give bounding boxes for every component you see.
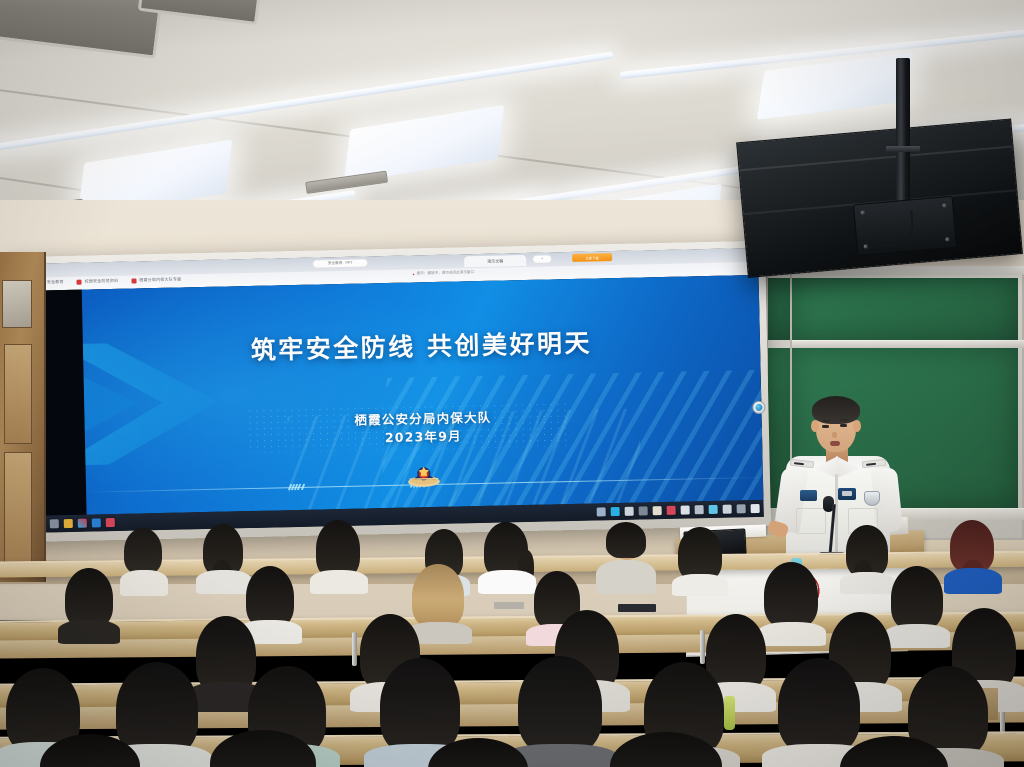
new-tab-button[interactable]: + <box>532 254 552 263</box>
cabinet-glass-panel <box>2 280 32 328</box>
lecture-hall-scene: 演示文稿 + 安全教育 · PPT 立即下载 ● 提示：播放中，请勿关闭此演示窗… <box>0 0 1024 767</box>
officer-eye <box>840 424 847 427</box>
browser-tab[interactable]: 演示文稿 <box>464 255 526 267</box>
bookmark-label: 栖霞分局内保大队专题 <box>139 276 181 283</box>
display-panel[interactable]: 演示文稿 + 安全教育 · PPT 立即下载 ● 提示：播放中，请勿关闭此演示窗… <box>12 248 764 533</box>
ceiling-panel-light <box>757 52 914 120</box>
bookmark-label: 校园安全防范资料 <box>85 278 119 285</box>
audience-member <box>830 736 958 767</box>
police-shield <box>864 491 880 506</box>
arm-patch <box>800 490 817 501</box>
touch-sensor-icon[interactable] <box>752 400 765 413</box>
bookmark-favicon <box>131 278 136 283</box>
mic-icon[interactable] <box>681 505 690 514</box>
chest-badge <box>838 488 856 500</box>
audience-member <box>118 528 170 590</box>
bookmark-item[interactable]: 栖霞分局内保大队专题 <box>131 276 181 283</box>
officer-ear <box>853 420 861 432</box>
gallery-icon[interactable] <box>737 504 746 513</box>
officer-ear <box>811 420 819 432</box>
slide-stage[interactable]: 筑牢安全防线 共创美好明天 栖霞公安分局内保大队 2023年9月 <box>13 275 764 516</box>
spotlight-icon[interactable] <box>709 505 718 514</box>
blackboard-rail <box>786 340 1024 348</box>
pen-icon[interactable] <box>639 506 648 515</box>
download-button[interactable]: 立即下载 <box>572 253 612 262</box>
officer-mouth <box>830 441 840 446</box>
officer-eyebrow <box>822 420 830 422</box>
calculator-icon[interactable] <box>751 504 760 513</box>
audience-seating <box>0 520 1024 767</box>
blackboard-panel-upper <box>792 278 1018 340</box>
police-badge-emblem <box>406 462 443 489</box>
whiteboard-toolbar[interactable] <box>597 504 760 517</box>
interactive-whiteboard[interactable]: 演示文稿 + 安全教育 · PPT 立即下载 ● 提示：播放中，请勿关闭此演示窗… <box>5 241 771 543</box>
audience-member <box>944 522 1002 592</box>
audience-member <box>30 734 150 767</box>
audience-member <box>310 522 368 592</box>
bookmark-item[interactable]: 校园安全防范资料 <box>77 278 119 285</box>
whiteboard-icon[interactable] <box>611 507 620 516</box>
audience-member <box>598 520 654 592</box>
cabinet-door-upper[interactable] <box>4 344 32 444</box>
blackboard-panel-upper <box>768 278 790 340</box>
slide-title: 筑牢安全防线 共创美好明天 <box>82 320 760 371</box>
audience-member <box>200 730 326 767</box>
annotate-icon[interactable] <box>625 507 634 516</box>
home-icon[interactable] <box>597 507 606 516</box>
audience-member <box>60 570 118 640</box>
highlighter-icon[interactable] <box>667 506 676 515</box>
bookmark-favicon <box>77 279 82 284</box>
officer-hair <box>812 396 860 424</box>
notice-dot-icon: ● <box>412 272 414 276</box>
screenshot-icon[interactable] <box>695 505 704 514</box>
audience-member <box>600 732 732 767</box>
officer-eyebrow <box>840 419 848 421</box>
officer-eye <box>822 425 829 428</box>
tv-pole-bracket <box>886 146 920 152</box>
officer-nose <box>832 432 837 438</box>
presentation-slide[interactable]: 筑牢安全防线 共创美好明天 栖霞公安分局内保大队 2023年9月 <box>81 275 763 515</box>
slide-tick-marks <box>289 484 303 490</box>
notebook <box>494 602 524 609</box>
audience-member <box>672 528 728 594</box>
audience-member <box>418 738 538 767</box>
ceiling-panel-light <box>344 105 505 183</box>
tools-icon[interactable] <box>723 505 732 514</box>
notebook <box>618 604 656 612</box>
address-bar[interactable]: 安全教育 · PPT <box>312 258 368 268</box>
eraser-icon[interactable] <box>653 506 662 515</box>
